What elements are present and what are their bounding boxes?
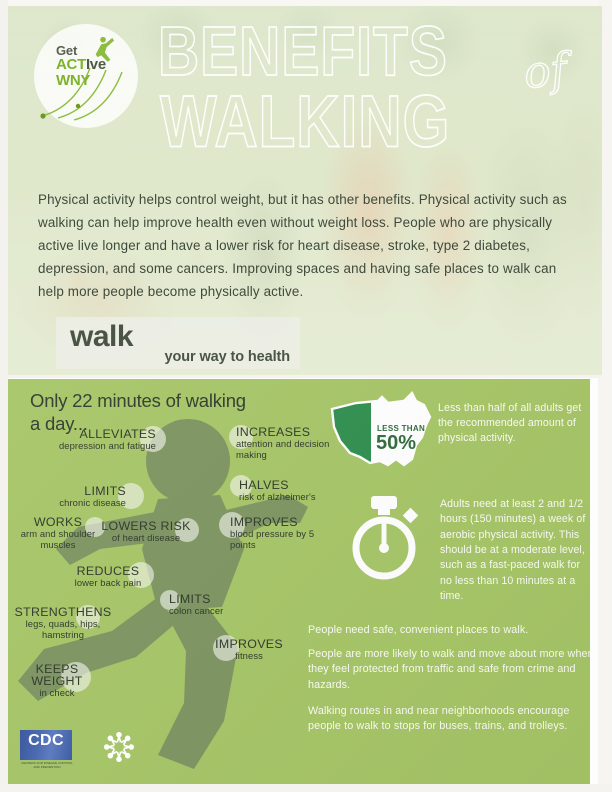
us-map-stat: LESS THAN 50% [326, 387, 444, 477]
benefit-cap: IMPROVES [230, 515, 322, 529]
benefit-label-alleviates: ALLEVIATES depression and fatigue [38, 427, 156, 452]
get-active-wny-logo: Get ACTIve WNY [34, 24, 138, 128]
benefit-sub: lower back pain [62, 578, 154, 589]
scan-edge-left [0, 0, 8, 792]
benefit-sub: of heart disease [100, 533, 192, 544]
logo-wordmark: Get ACTIve WNY [56, 44, 106, 88]
benefit-cap: ALLEVIATES [38, 427, 156, 441]
benefit-cap: LOWERS RISK [100, 519, 192, 533]
benefit-cap: HALVES [239, 478, 349, 492]
benefit-label-lowers-risk: LOWERS RISK of heart disease [100, 519, 192, 544]
benefit-sub: in check [22, 688, 92, 699]
benefit-label-works: WORKS arm and shoulder muscles [17, 515, 99, 551]
hero-section: Get ACTIve WNY BENEFITS of WALKING Physi… [8, 6, 602, 378]
benefit-sub: arm and shoulder muscles [17, 529, 99, 551]
note-protected-traffic: People are more likely to walk and move … [308, 647, 590, 693]
logo-act-green: ACT [56, 56, 86, 73]
logo-line-get: Get [56, 44, 106, 57]
benefit-label-improves-bp: IMPROVES blood pressure by 5 points [230, 515, 322, 551]
title-walking: WALKING [160, 88, 450, 155]
benefit-sub: depression and fatigue [38, 441, 156, 452]
benefit-label-reduces: REDUCES lower back pain [62, 564, 154, 589]
benefit-sub: legs, quads, hips, hamstring [14, 619, 112, 641]
title-of-script: of [521, 44, 569, 99]
benefit-cap: IMPROVES [206, 637, 292, 651]
benefit-cap: STRENGTHENS [14, 605, 112, 619]
benefit-sub: chronic disease [26, 498, 126, 509]
svg-text:50%: 50% [376, 432, 416, 454]
benefit-sub: colon cancer [169, 606, 259, 617]
benefit-sub: risk of alzheimer's [239, 492, 349, 503]
logo-line-active: ACTIve [56, 57, 106, 72]
benefits-panel: Only 22 minutes of walking a day... [8, 379, 590, 784]
logo-act-dark: Ive [86, 56, 106, 73]
banner-headline: walk [70, 320, 133, 354]
benefit-cap: LIMITS [26, 484, 126, 498]
map-stat-caption: Less than half of all adults get the rec… [438, 401, 588, 446]
benefit-sub: blood pressure by 5 points [230, 529, 322, 551]
benefit-label-halves: HALVES risk of alzheimer's [239, 478, 349, 503]
page-title: BENEFITS of WALKING [158, 20, 598, 165]
note-safe-places: People need safe, convenient places to w… [308, 623, 590, 638]
benefit-label-improves-fitness: IMPROVES fitness [206, 637, 292, 662]
stopwatch-graphic [350, 496, 424, 580]
cdc-logo: CDC [20, 730, 72, 760]
logo-line-wny: WNY [56, 73, 106, 88]
infographic-page: Get ACTIve WNY BENEFITS of WALKING Physi… [0, 0, 612, 792]
benefit-label-limits-colon: LIMITS colon cancer [169, 592, 259, 617]
benefit-sub: fitness [206, 651, 292, 662]
stopwatch-icon [350, 496, 424, 580]
stopwatch-caption: Adults need at least 2 and 1/2 hours (15… [440, 497, 590, 605]
benefit-label-strengthens: STRENGTHENS legs, quads, hips, hamstring [14, 605, 112, 641]
cdc-tagline: CENTERS FOR DISEASE CONTROL AND PREVENTI… [18, 761, 76, 770]
benefit-label-keeps-weight: KEEPS WEIGHT in check [22, 663, 92, 699]
hhs-people-emblem-icon [100, 728, 138, 766]
banner-subhead: your way to health [165, 349, 291, 365]
benefit-cap: REDUCES [62, 564, 154, 578]
footer: CDC CENTERS FOR DISEASE CONTROL AND PREV… [8, 726, 602, 786]
intro-paragraph: Physical activity helps control weight, … [38, 188, 584, 303]
us-map-icon: LESS THAN 50% [326, 387, 444, 477]
section-divider [8, 375, 602, 378]
walk-your-way-banner: walk your way to health [56, 317, 300, 369]
benefit-cap: KEEPS WEIGHT [22, 663, 92, 688]
benefit-label-limits-chronic: LIMITS chronic disease [26, 484, 126, 509]
benefit-cap: LIMITS [169, 592, 259, 606]
benefit-cap: WORKS [17, 515, 99, 529]
cdc-wordmark: CDC [20, 732, 72, 750]
